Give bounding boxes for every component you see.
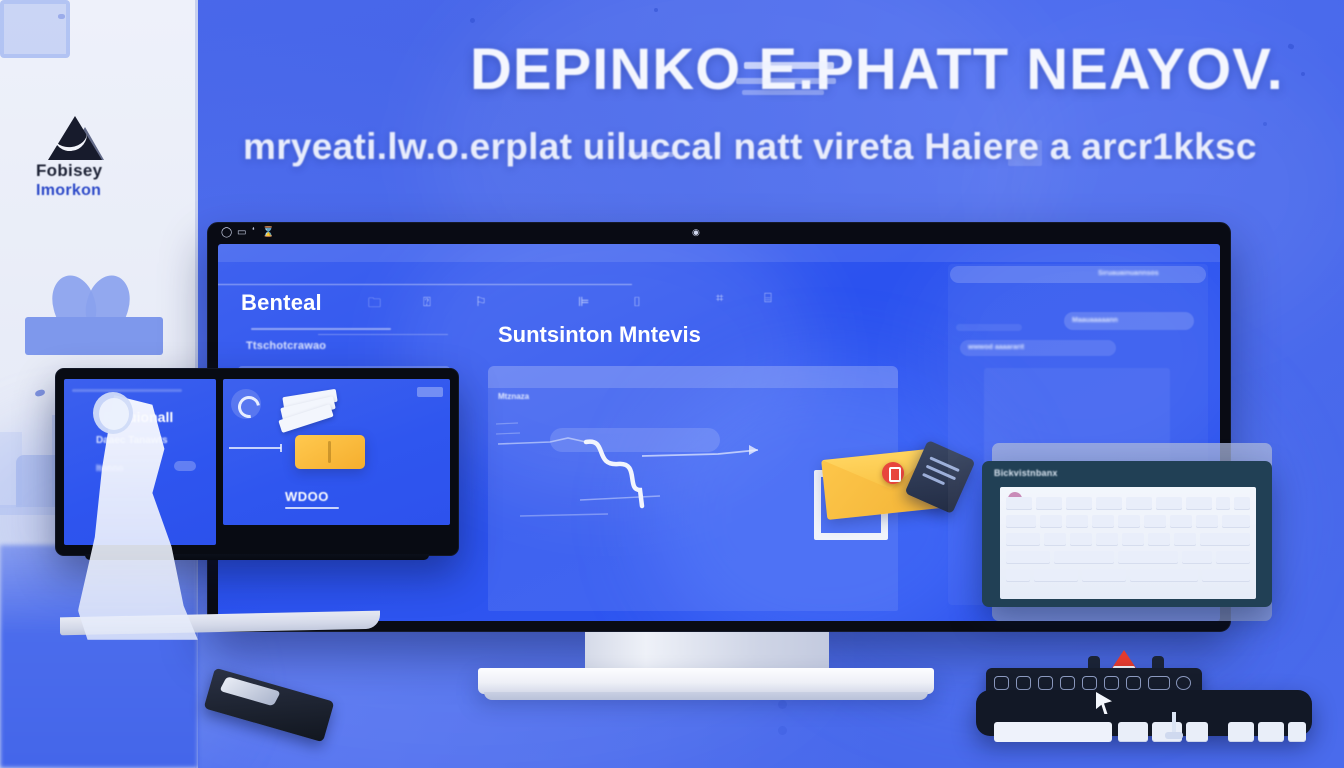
nav-underline-secondary [318,334,448,335]
headline-artifact [736,78,836,84]
speck-dot [778,700,787,709]
flag-icon[interactable]: ⚐ [475,294,487,310]
dock-key[interactable] [1258,722,1284,742]
grid-icon[interactable] [1016,676,1031,690]
hourglass-icon: ⌛ [262,227,274,238]
window-icon: ▭ [237,227,246,238]
document-stack-icon [279,393,339,435]
folder-icon[interactable]: 🗀 [368,294,381,316]
brand-name-line2: Imorkon [36,182,166,200]
right-panel-row1-label: Maauaaaaann [1072,317,1118,324]
headline-artifact [744,62,834,69]
nav-underline [251,328,391,330]
dock-key-bar [976,690,1312,736]
envelope-illustration [814,444,946,544]
dock-key[interactable] [1288,722,1306,742]
box-icon[interactable] [1104,676,1119,690]
dock-wide-key[interactable] [994,722,1112,742]
link-icon[interactable] [1148,676,1170,690]
app-sub-label: Ttschotcrawao [246,340,326,352]
circle-icon: ◯ [221,227,232,238]
speck-dot [58,14,65,19]
center-divider [218,284,632,285]
right-panel-topbar [950,266,1206,283]
laptop-left-chip [174,461,196,471]
headline-artifact [742,90,824,95]
tablet-window: Bickvistnbanx [982,461,1272,607]
dock-key[interactable] [1228,722,1254,742]
subheadline-artifact [628,152,674,157]
share-icon[interactable] [1082,676,1097,690]
hero-headline: DEPINKO E.PHATT NEAYOV. [470,36,1344,103]
grid-icon[interactable]: ⌗ [716,290,723,306]
camera-icon: ◉ [692,227,700,238]
user-icon[interactable]: ⍰ [423,294,431,310]
speck-dot [654,8,658,12]
dock-stand [1172,712,1176,734]
orange-card-icon [295,435,365,469]
back-icon[interactable] [994,676,1009,690]
monitor-topbar: ◯ ▭ ❛ ⌛ ◉ [207,222,1231,244]
tablet-window-title: Bickvistnbanx [994,468,1058,478]
window-controls-icon[interactable] [417,387,443,397]
tag-icon[interactable]: ⌸ [764,290,772,306]
dock-key[interactable] [1186,722,1208,742]
hero-illustration-canvas: Fobisey Imorkon DEPINKO E.PHATT NEAYOV. … [0,0,1344,768]
center-panel-title: Suntsinton Mntevis [498,322,701,348]
hero-subheadline: mryeati.lw.o.erplat uiluccal natt vireta… [243,126,1344,168]
cursor-icon: ❛ [252,225,255,236]
laptop-right-label: WDOO [285,489,329,504]
dock-key[interactable] [1118,722,1148,742]
alert-badge-icon [882,462,904,484]
brand-logo[interactable]: Fobisey Imorkon [36,112,166,200]
circle-icon[interactable] [1176,676,1191,690]
remote-control-icon [204,668,335,743]
bookmark-icon[interactable]: ⌷ [633,294,641,310]
layers-icon[interactable] [1038,676,1053,690]
subheadline-artifact [1008,140,1042,166]
arrow-icon [229,447,281,449]
right-panel-row2-label: wwwod aaaararit [968,344,1024,351]
monitor-stand-base [478,668,934,694]
speck-dot [34,389,45,398]
mountain-peak-logo-icon [42,112,104,160]
speck-dot [778,726,787,735]
potted-plant-icon [25,275,165,355]
keyboard-grid-icon [1000,487,1256,599]
bottom-dock [976,668,1312,740]
sketch-window [0,0,70,58]
screen-top-line [72,389,182,392]
list-icon[interactable] [1060,676,1075,690]
swirl-logo-icon [231,389,261,419]
laptop-right-screen: WDOO [223,379,450,525]
white-figure-face [99,398,129,430]
tablet-device: Bickvistnbanx [982,443,1272,625]
chart-icon[interactable]: ⊫ [578,294,589,310]
right-panel-topbar-label: Siruauainuannsos [1098,270,1159,277]
card-pill [550,428,720,452]
card-subtitle: Mtznaza [498,392,529,401]
tag-icon[interactable] [1126,676,1141,690]
laptop-right-label-underline [285,507,339,509]
right-panel-bar [956,324,1022,331]
card-header-bar [488,366,898,388]
speck-dot [470,18,475,23]
brand-name-line1: Fobisey [36,161,166,181]
app-brand-name: Benteal [241,290,322,316]
app-top-strip [218,244,1220,262]
plant-pot [25,317,163,355]
